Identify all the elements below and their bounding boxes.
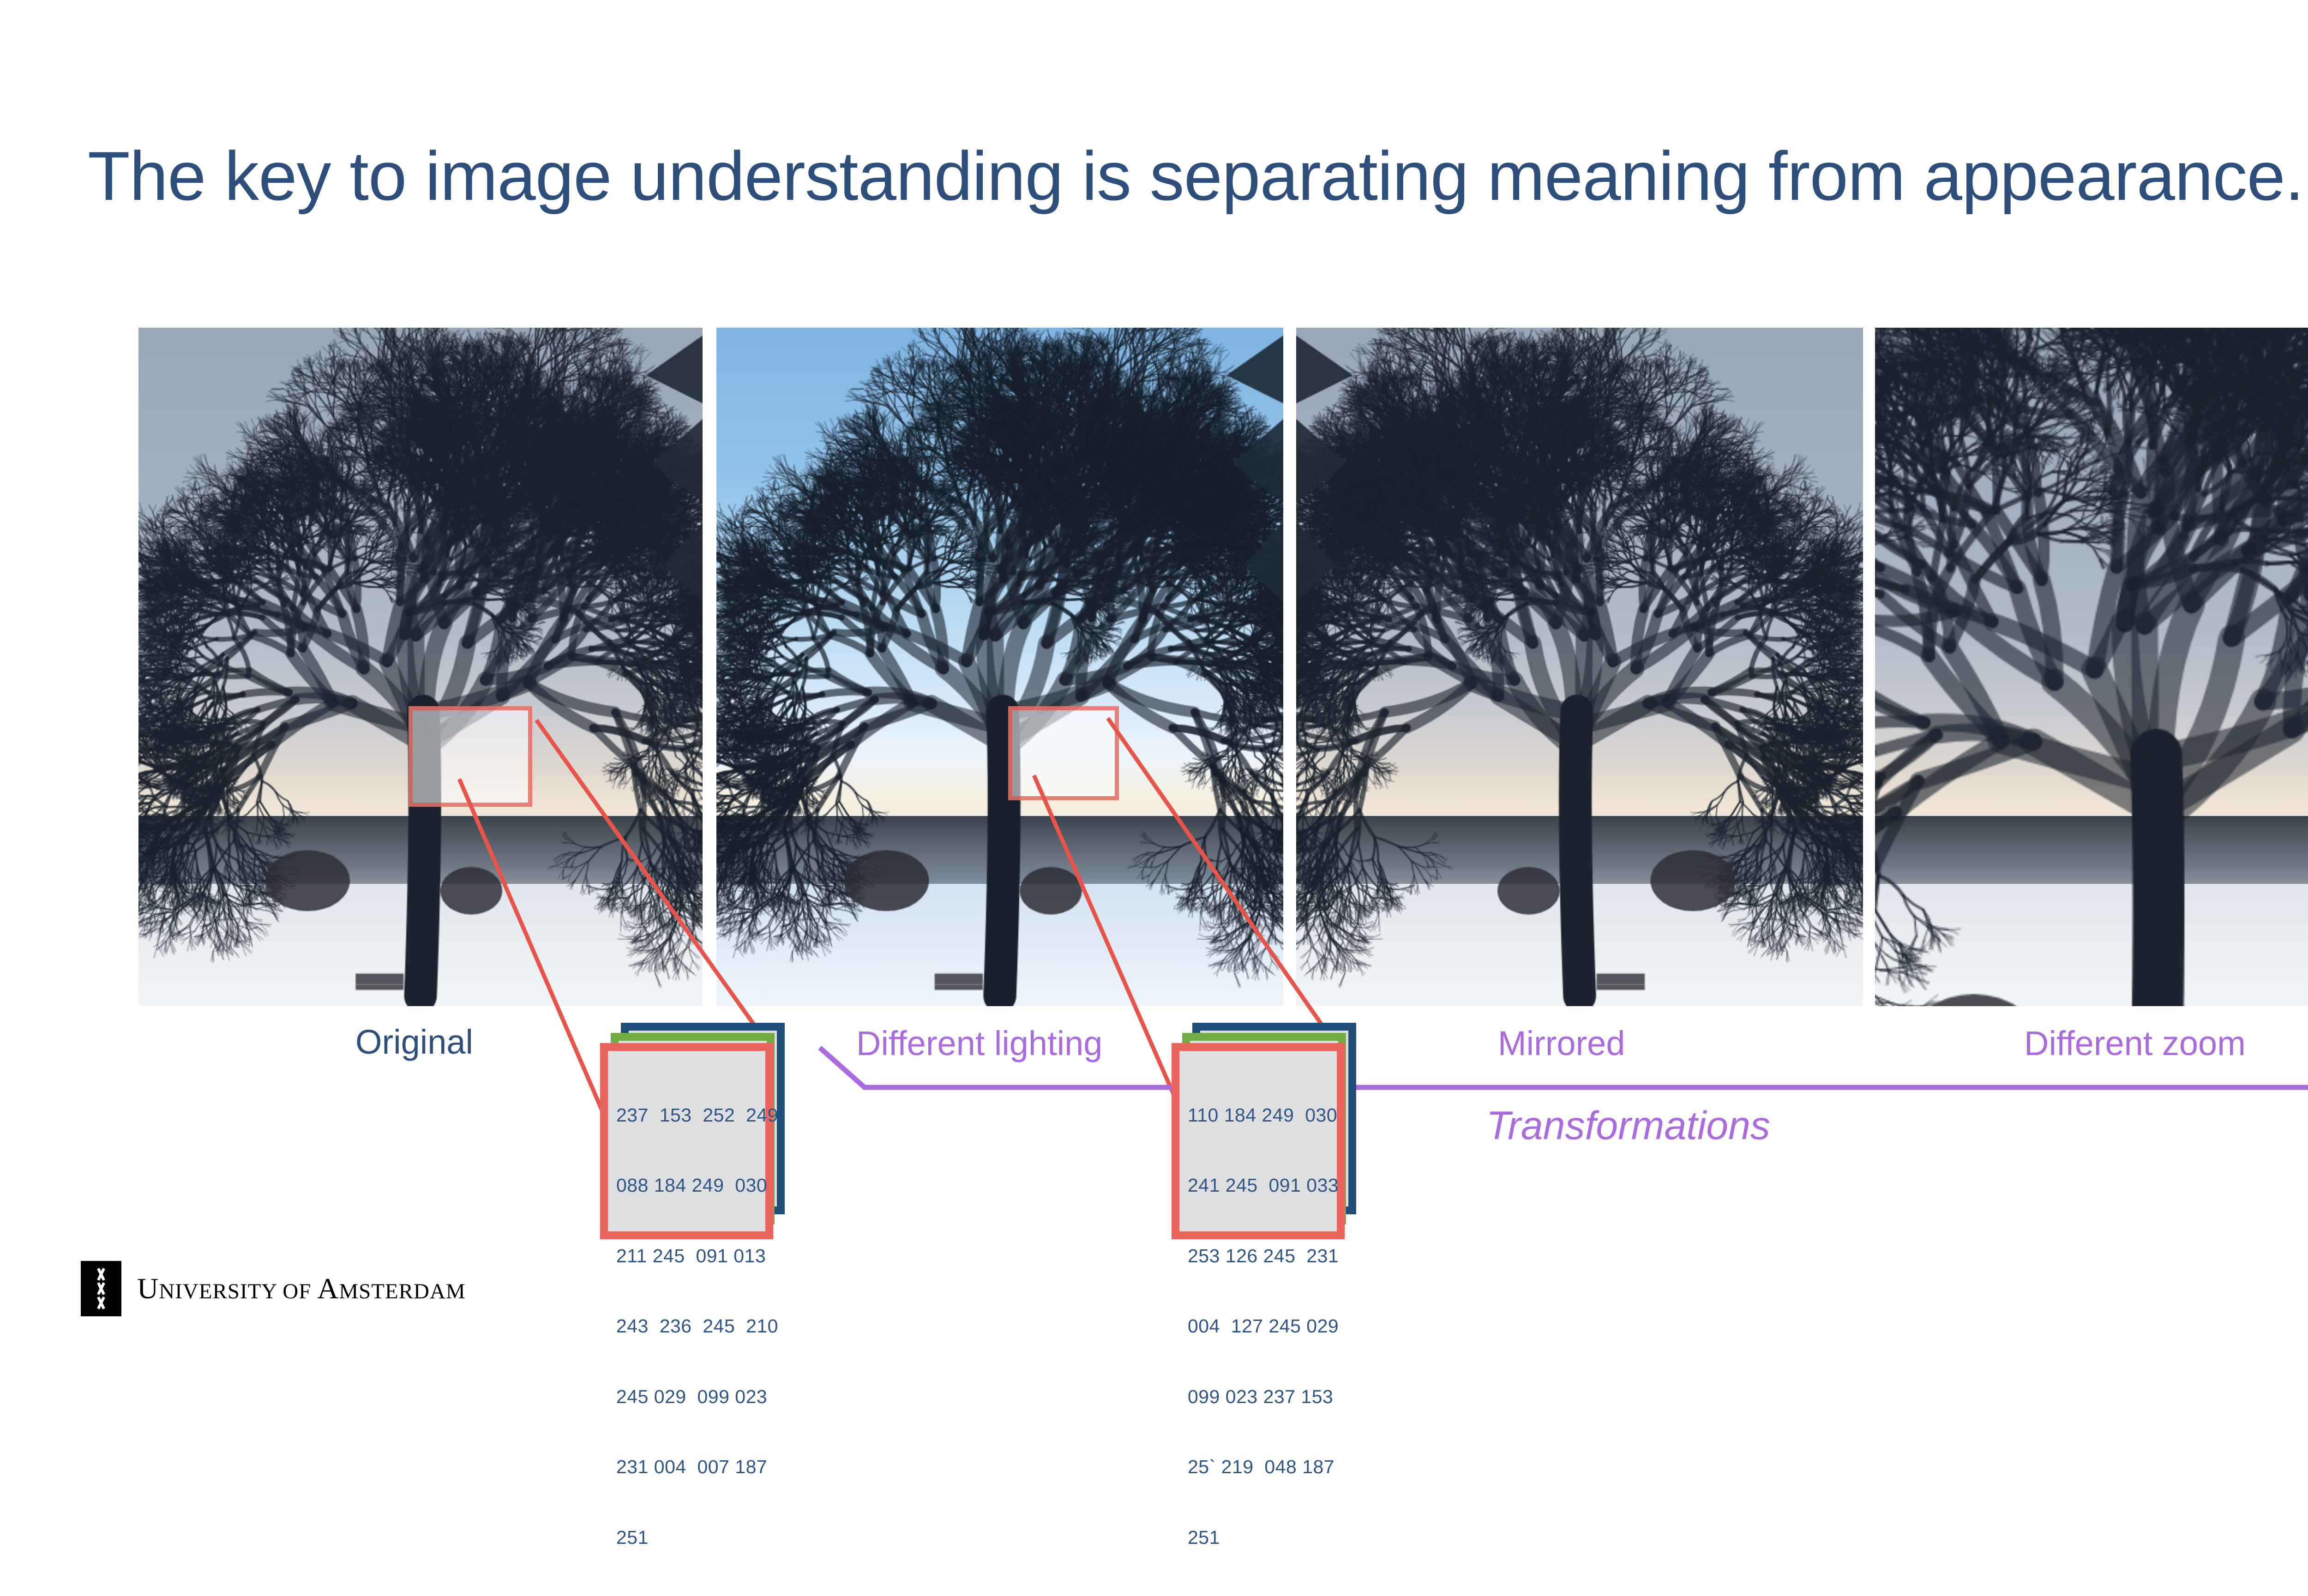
wordmark-a: A — [317, 1272, 339, 1305]
matrix-row: 245 029 099 023 — [616, 1385, 761, 1409]
wordmark-msterdam: MSTERDAM — [339, 1279, 465, 1303]
matrix-row: 243 236 245 210 — [616, 1314, 761, 1338]
caption-different-zoom: Different zoom — [2024, 1024, 2246, 1063]
andreas-cross-icon — [94, 1296, 108, 1309]
tree-illustration — [716, 328, 1283, 1006]
page-title: The key to image understanding is separa… — [88, 138, 2308, 213]
matrix-row: 251 — [1188, 1526, 1332, 1549]
patch-highlight-box — [1008, 706, 1119, 800]
caption-mirrored: Mirrored — [1498, 1024, 1625, 1063]
matrix-row: 253 126 245 231 — [1188, 1244, 1332, 1268]
photo-panel-original — [138, 328, 703, 1006]
matrix-row: 004 127 245 029 — [1188, 1314, 1332, 1338]
pixel-values-lighting: 110 184 249 030 241 245 091 033 253 126 … — [1188, 1056, 1332, 1596]
pixel-values-original: 237 153 252 249 088 184 249 030 211 245 … — [616, 1056, 761, 1596]
tree-illustration — [138, 328, 703, 1006]
wordmark-u: U — [137, 1272, 159, 1305]
wordmark-niversity-of: NIVERSITY OF — [159, 1279, 317, 1303]
tree-illustration — [1875, 328, 2308, 1006]
matrix-row: 237 153 252 249 — [616, 1104, 761, 1127]
matrix-row: 231 004 007 187 — [616, 1455, 761, 1479]
matrix-row: 099 023 237 153 — [1188, 1385, 1332, 1409]
transformations-label: Transformations — [1486, 1103, 1770, 1149]
pixel-matrix-stack-original: 237 153 252 249 088 184 249 030 211 245 … — [600, 1023, 785, 1235]
andreas-cross-icon — [94, 1282, 108, 1295]
matrix-card-front: 237 153 252 249 088 184 249 030 211 245 … — [600, 1043, 773, 1239]
matrix-row: 110 184 249 030 — [1188, 1104, 1332, 1127]
andreas-cross-icon — [94, 1268, 108, 1281]
photo-panel-different-lighting — [716, 328, 1283, 1006]
caption-original: Original — [355, 1022, 473, 1062]
matrix-row: 088 184 249 030 — [616, 1174, 761, 1197]
tree-illustration — [1296, 328, 1863, 1006]
matrix-row: 251 — [616, 1526, 761, 1549]
university-wordmark: UNIVERSITY OF AMSTERDAM — [137, 1272, 466, 1306]
patch-highlight-box — [409, 706, 532, 807]
matrix-row: 25` 219 048 187 — [1188, 1455, 1332, 1479]
matrix-row: 241 245 091 033 — [1188, 1174, 1332, 1197]
caption-different-lighting: Different lighting — [856, 1024, 1102, 1063]
matrix-card-front: 110 184 249 030 241 245 091 033 253 126 … — [1172, 1043, 1345, 1239]
photo-panel-mirrored — [1296, 328, 1863, 1006]
photo-panel-different-zoom — [1875, 328, 2308, 1006]
university-of-amsterdam-logo: UNIVERSITY OF AMSTERDAM — [81, 1261, 466, 1316]
amsterdam-coat-of-arms-icon — [81, 1261, 121, 1316]
pixel-matrix-stack-lighting: 110 184 249 030 241 245 091 033 253 126 … — [1172, 1023, 1356, 1235]
matrix-row: 211 245 091 013 — [616, 1244, 761, 1268]
